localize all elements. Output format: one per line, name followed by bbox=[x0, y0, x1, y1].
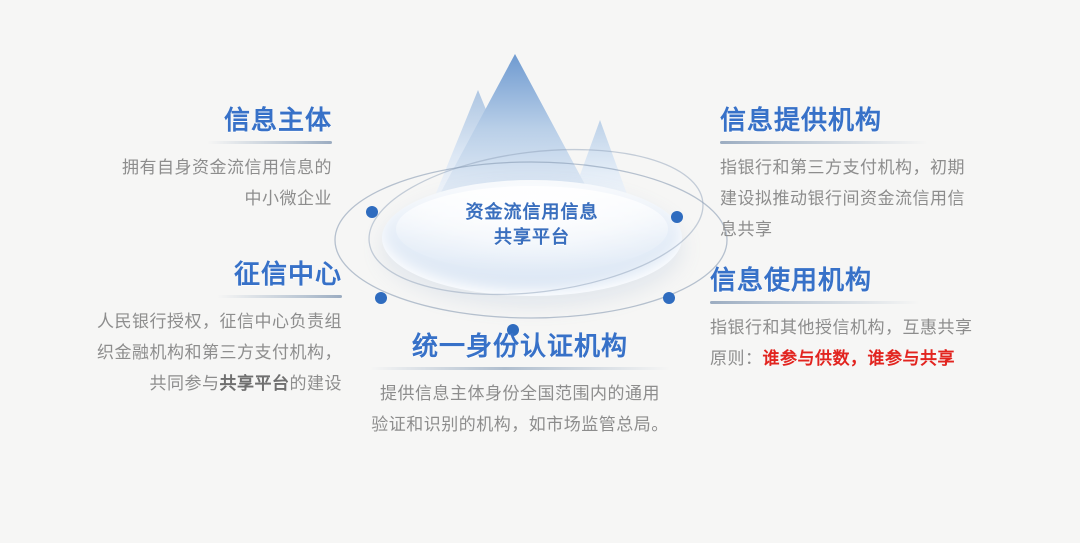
body-line: 指银行和其他授信机构，互惠共享 bbox=[710, 312, 1060, 343]
heading-unified-identity-authority: 统一身份认证机构 bbox=[340, 330, 700, 362]
body-text-accent: 谁参与供数，谁参与共享 bbox=[763, 349, 956, 368]
heading-rule-identity bbox=[370, 367, 670, 370]
body-line: 中小微企业 bbox=[0, 183, 332, 214]
infographic-canvas: 资金流信用信息 共享平台 信息主体 拥有自身资金流信用信息的 中小微企业 征信中… bbox=[0, 0, 1080, 543]
heading-credit-reference-center: 征信中心 bbox=[0, 258, 342, 290]
heading-rule-subject bbox=[207, 141, 332, 144]
heading-rule-provider bbox=[720, 141, 928, 144]
body-line: 提供信息主体身份全国范围内的通用 bbox=[340, 378, 700, 409]
platform-title: 资金流信用信息 共享平台 bbox=[382, 200, 682, 250]
body-credit-reference-center: 人民银行授权，征信中心负责组 织金融机构和第三方支付机构， 共同参与共享平台的建… bbox=[0, 306, 342, 399]
heading-rule-user bbox=[710, 301, 920, 304]
body-information-subject: 拥有自身资金流信用信息的 中小微企业 bbox=[0, 152, 332, 214]
body-text-prefix: 共同参与 bbox=[150, 374, 220, 393]
body-information-provider: 指银行和第三方支付机构，初期 建设拟推动银行间资金流信用信 息共享 bbox=[720, 152, 1050, 245]
heading-information-subject: 信息主体 bbox=[0, 104, 332, 136]
body-line: 验证和识别的机构，如市场监管总局。 bbox=[340, 409, 700, 440]
heading-rule-credit-center bbox=[217, 295, 342, 298]
body-unified-identity-authority: 提供信息主体身份全国范围内的通用 验证和识别的机构，如市场监管总局。 bbox=[340, 378, 700, 440]
body-line-with-emphasis: 共同参与共享平台的建设 bbox=[0, 368, 342, 399]
body-line: 人民银行授权，征信中心负责组 bbox=[0, 306, 342, 337]
body-line: 建设拟推动银行间资金流信用信 bbox=[720, 183, 1050, 214]
heading-information-user: 信息使用机构 bbox=[710, 264, 1060, 296]
body-line: 息共享 bbox=[720, 214, 1050, 245]
body-line: 织金融机构和第三方支付机构， bbox=[0, 337, 342, 368]
block-information-user: 信息使用机构 指银行和其他授信机构，互惠共享 原则：谁参与供数，谁参与共享 bbox=[710, 264, 1060, 374]
orbit-node-bottom-left bbox=[375, 292, 387, 304]
block-information-subject: 信息主体 拥有自身资金流信用信息的 中小微企业 bbox=[0, 104, 332, 214]
body-line-with-accent: 原则：谁参与供数，谁参与共享 bbox=[710, 343, 1060, 374]
orbit-node-bottom-right bbox=[663, 292, 675, 304]
platform-title-line-1: 资金流信用信息 bbox=[382, 200, 682, 225]
central-platform-graphic: 资金流信用信息 共享平台 bbox=[330, 40, 730, 330]
block-information-provider: 信息提供机构 指银行和第三方支付机构，初期 建设拟推动银行间资金流信用信 息共享 bbox=[720, 104, 1050, 245]
body-text-prefix: 原则： bbox=[710, 349, 763, 368]
orbit-node-top-left bbox=[366, 206, 378, 218]
body-line: 拥有自身资金流信用信息的 bbox=[0, 152, 332, 183]
block-credit-reference-center: 征信中心 人民银行授权，征信中心负责组 织金融机构和第三方支付机构， 共同参与共… bbox=[0, 258, 342, 399]
body-information-user: 指银行和其他授信机构，互惠共享 原则：谁参与供数，谁参与共享 bbox=[710, 312, 1060, 374]
body-line: 指银行和第三方支付机构，初期 bbox=[720, 152, 1050, 183]
block-unified-identity-authority: 统一身份认证机构 提供信息主体身份全国范围内的通用 验证和识别的机构，如市场监管… bbox=[340, 330, 700, 440]
body-text-bold: 共享平台 bbox=[220, 374, 290, 393]
body-text-suffix: 的建设 bbox=[290, 374, 343, 393]
heading-information-provider: 信息提供机构 bbox=[720, 104, 1050, 136]
platform-title-line-2: 共享平台 bbox=[382, 225, 682, 250]
